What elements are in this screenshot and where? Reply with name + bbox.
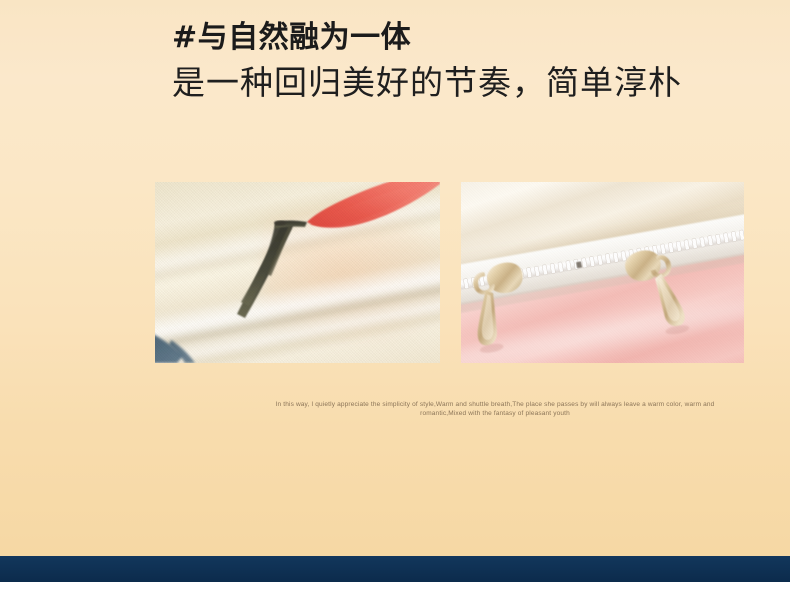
english-caption: In this way, I quietly appreciate the si… <box>275 400 715 418</box>
zipper-closeup-photo <box>461 182 744 363</box>
photo-row <box>155 182 744 363</box>
zipper-fabric-texture <box>461 182 744 363</box>
fabric-print-closeup-photo <box>155 182 440 363</box>
page-subtitle: 是一种回归美好的节奏，简单淳朴 <box>172 60 752 106</box>
headline-block: #与自然融为一体 是一种回归美好的节奏，简单淳朴 <box>172 18 752 106</box>
footer-navy-band <box>0 556 790 582</box>
fabric-weave-texture <box>155 182 440 363</box>
page-title: #与自然融为一体 <box>172 18 752 58</box>
footer-white-strip <box>0 582 790 598</box>
promo-page: #与自然融为一体 是一种回归美好的节奏，简单淳朴 <box>0 0 790 598</box>
